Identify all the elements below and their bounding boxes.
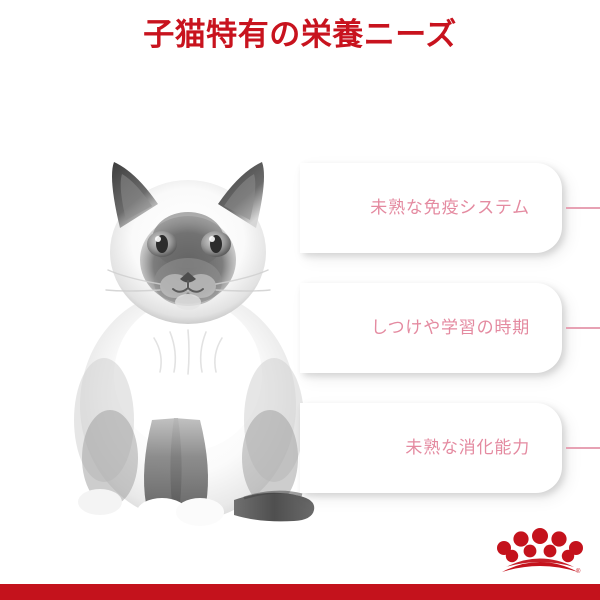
connector-line-2 (566, 327, 600, 329)
callout-label-3: 未熟な消化能力 (405, 436, 530, 460)
poster-root: 子猫特有の栄養ニーズ (0, 0, 600, 600)
callout-label-1: 未熟な免疫システム (370, 196, 530, 220)
kitten-illustration (48, 120, 328, 540)
footer-bar (0, 584, 600, 600)
kitten-image (48, 120, 328, 540)
connector-line-1 (566, 207, 600, 209)
crown-icon: ® (496, 526, 584, 578)
callout-label-2: しつけや学習の時期 (371, 316, 530, 340)
connector-line-3 (566, 447, 600, 449)
page-title: 子猫特有の栄養ニーズ (0, 16, 600, 54)
callout-card-2: しつけや学習の時期 (300, 283, 562, 373)
royal-canin-crown-logo: ® (496, 526, 584, 578)
registered-mark: ® (576, 568, 581, 575)
callout-card-1: 未熟な免疫システム (300, 163, 562, 253)
callout-card-3: 未熟な消化能力 (300, 403, 562, 493)
